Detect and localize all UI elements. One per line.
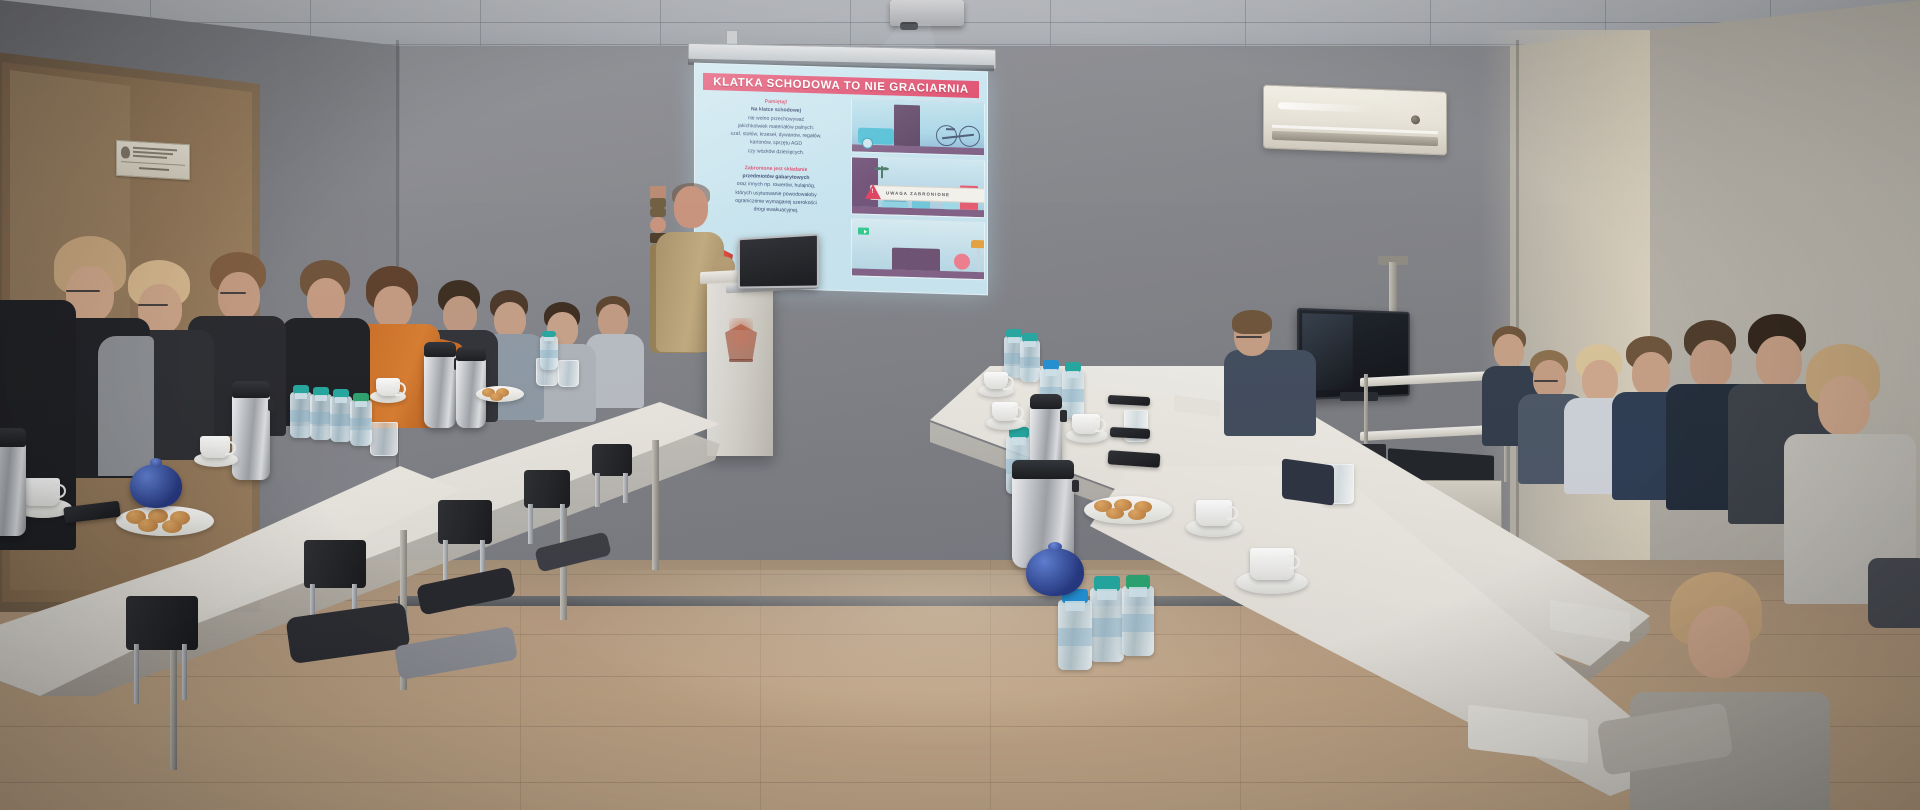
lectern-emblem-icon (721, 318, 761, 366)
cookie-plate (1084, 496, 1172, 524)
projector-lens-icon (900, 22, 918, 30)
coffee-cup[interactable] (200, 436, 230, 458)
thermos-flask[interactable] (232, 392, 270, 480)
attendee-r0-torso (1224, 350, 1316, 436)
presenter-epaulette-left (650, 198, 666, 208)
coffee-cup[interactable] (984, 372, 1008, 389)
presenter-epaulette-right (650, 208, 666, 217)
tv-stand (1340, 392, 1378, 401)
attendee-r0-hair (1232, 310, 1272, 334)
glasses-icon (138, 304, 168, 306)
attendee-hand (1868, 558, 1920, 628)
water-bottle[interactable] (540, 336, 558, 370)
water-bottle[interactable] (310, 394, 332, 440)
water-bottle[interactable] (1020, 340, 1040, 382)
ac-indicator-icon (1411, 115, 1420, 124)
water-bottle[interactable] (290, 392, 312, 438)
illustration-stairwell-bicycle (851, 98, 985, 156)
glasses-icon (1236, 336, 1262, 338)
drinking-glass[interactable] (370, 422, 398, 456)
blue-ceramic-pot[interactable] (130, 464, 182, 508)
exit-sign-icon (858, 228, 869, 235)
slide-text-column: Pamiętaj! Na klatce schodowej nie wolno … (701, 96, 851, 217)
thermos-flask[interactable] (424, 352, 456, 428)
warning-triangle-icon (865, 184, 881, 199)
coffee-cup[interactable] (22, 478, 60, 506)
warning-sign-text: UWAGA ZABRONIONE (886, 190, 950, 197)
coffee-cup[interactable] (376, 378, 400, 396)
glasses-icon (1534, 380, 1558, 382)
slide-title-bar: KLATKA SCHODOWA TO NIE GRACIARNIA (703, 73, 979, 98)
slide-title: KLATKA SCHODOWA TO NIE GRACIARNIA (713, 76, 969, 96)
air-conditioner (1263, 84, 1447, 155)
lectern (707, 276, 773, 456)
mobile-phone[interactable] (1110, 427, 1150, 439)
glasses-icon (66, 290, 100, 292)
plaque-crest-icon (121, 146, 130, 159)
thermos-flask[interactable] (0, 440, 26, 536)
conference-room-photo: KLATKA SCHODOWA TO NIE GRACIARNIA Pamięt… (0, 0, 1920, 810)
water-bottle[interactable] (1058, 600, 1092, 670)
coffee-cup[interactable] (1196, 500, 1232, 526)
door-plaque (116, 140, 190, 180)
coffee-cup[interactable] (1072, 414, 1100, 434)
notebook[interactable] (1282, 458, 1334, 505)
coffee-cup[interactable] (992, 402, 1018, 421)
water-bottle[interactable] (1090, 588, 1124, 662)
presenter-neck (650, 186, 666, 198)
water-bottle[interactable] (1122, 586, 1154, 656)
presenter-firefighter (650, 186, 712, 353)
plant-icon (874, 166, 890, 178)
coffee-cup[interactable] (1250, 548, 1294, 580)
presenter-hand (650, 217, 666, 233)
presenter-head (674, 186, 708, 228)
illustration-landing-sofa (851, 218, 985, 280)
blue-ceramic-pot[interactable] (1026, 548, 1084, 596)
cookie-plate (116, 506, 214, 536)
slide-illustration-column: UWAGA ZABRONIONE (851, 98, 983, 280)
glasses-icon (220, 292, 246, 294)
cookie-plate (476, 386, 524, 402)
drinking-glass[interactable] (558, 360, 579, 387)
table-leg (652, 440, 659, 570)
water-bottle[interactable] (350, 400, 372, 446)
water-bottle[interactable] (330, 396, 352, 442)
floor-light-reflection (560, 570, 1320, 750)
laptop[interactable] (738, 233, 819, 288)
illustration-corridor-storage: UWAGA ZABRONIONE (851, 156, 985, 218)
